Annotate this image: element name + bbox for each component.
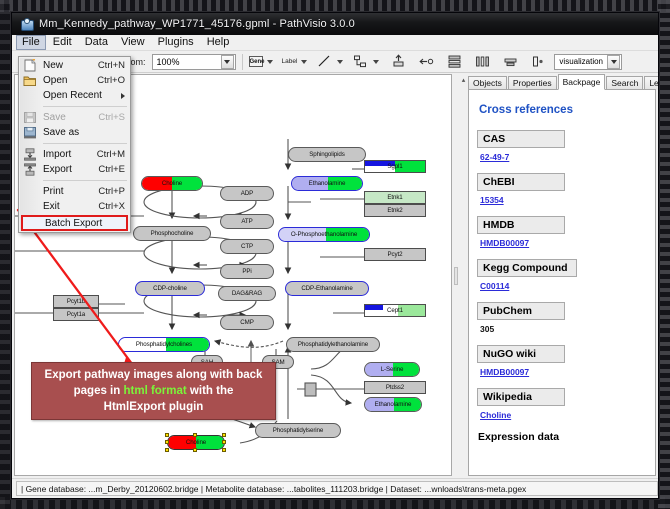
callout-annotation: Export pathway images along with back pa… xyxy=(31,362,276,420)
menu-divider xyxy=(43,143,127,144)
menu-edit[interactable]: Edit xyxy=(47,35,78,50)
chevron-down-icon[interactable] xyxy=(267,60,273,64)
visualization-manager-tool[interactable] xyxy=(530,53,547,70)
chevron-down-icon[interactable] xyxy=(607,55,620,69)
callout-highlight: html format xyxy=(123,385,186,397)
menu-item-batch-export[interactable]: Batch Export xyxy=(21,215,128,231)
menu-item-shortcut: Ctrl+X xyxy=(98,201,125,212)
menu-item-shortcut: Ctrl+E xyxy=(98,164,125,175)
menu-item-label: Open xyxy=(43,75,67,86)
statusbar-text: | Gene database: ...m_Derby_20120602.bri… xyxy=(16,481,658,496)
new-document-icon xyxy=(23,59,37,72)
common-width-icon xyxy=(503,54,518,69)
callout-line-3: HtmlExport plugin xyxy=(104,399,204,415)
menu-item-import[interactable]: Import Ctrl+M xyxy=(19,147,130,162)
menu-item-label: Export xyxy=(43,164,72,175)
align-left-icon xyxy=(419,54,434,69)
xref-value-wikipedia[interactable]: Choline xyxy=(480,410,647,420)
line-icon xyxy=(317,54,332,69)
gene-product-tool[interactable]: Gene xyxy=(249,53,263,70)
xref-value-cas[interactable]: 62-49-7 xyxy=(480,152,647,162)
menu-item-label: Import xyxy=(43,149,71,160)
visualization-combobox[interactable]: visualization xyxy=(554,54,622,70)
chevron-down-icon[interactable] xyxy=(373,60,379,64)
desktop-texture-top xyxy=(0,0,670,12)
menu-item-shortcut: Ctrl+O xyxy=(97,75,125,86)
menu-item-open[interactable]: Open Ctrl+O xyxy=(19,73,130,88)
menu-item-save[interactable]: Save Ctrl+S xyxy=(19,110,130,125)
visualization-icon xyxy=(531,54,546,69)
pathvisio-icon xyxy=(20,18,33,31)
visualization-value: visualization xyxy=(559,57,603,66)
window-titlebar[interactable]: Mm_Kennedy_pathway_WP1771_45176.gpml - P… xyxy=(12,13,658,35)
menu-item-shortcut: Ctrl+S xyxy=(98,112,125,123)
label-tool[interactable]: Label xyxy=(282,53,298,70)
align-top-tool[interactable] xyxy=(390,53,407,70)
interaction-tool[interactable] xyxy=(352,53,369,70)
save-disk-icon xyxy=(23,111,37,124)
export-icon xyxy=(23,163,37,176)
xref-value-pubchem: 305 xyxy=(480,324,647,334)
callout-line-2-a: pages in xyxy=(74,385,124,397)
menu-item-shortcut: Ctrl+P xyxy=(98,186,125,197)
menu-plugins[interactable]: Plugins xyxy=(152,35,200,50)
file-menu-dropdown: New Ctrl+N Open Ctrl+O Open Recent xyxy=(18,56,131,233)
splitter-grip[interactable] xyxy=(454,267,458,285)
menu-item-shortcut: Ctrl+N xyxy=(98,60,125,71)
menu-item-label: Open Recent xyxy=(43,90,102,101)
tab-properties[interactable]: Properties xyxy=(508,76,557,90)
statusbar: | Gene database: ...m_Derby_20120602.bri… xyxy=(12,478,658,498)
menu-data[interactable]: Data xyxy=(79,35,114,50)
callout-line-1: Export pathway images along with back xyxy=(45,367,263,383)
menu-item-save-as[interactable]: Save as xyxy=(19,125,130,140)
side-panel: ▴ Objects Properties Backpage Search Leg… xyxy=(460,74,656,476)
menu-item-label: New xyxy=(43,60,63,71)
stack-vertical-icon xyxy=(447,54,462,69)
chevron-down-icon[interactable] xyxy=(337,60,343,64)
xref-db-hmdb: HMDB xyxy=(477,216,565,234)
menu-item-label: Save xyxy=(43,112,66,123)
xref-value-nugo-wiki[interactable]: HMDB00097 xyxy=(480,367,647,377)
save-as-icon xyxy=(23,126,37,139)
align-left-tool[interactable] xyxy=(418,53,435,70)
screen: Mm_Kennedy_pathway_WP1771_45176.gpml - P… xyxy=(0,0,670,509)
menu-view[interactable]: View xyxy=(115,35,151,50)
align-top-icon xyxy=(391,54,406,69)
zoom-value: 100% xyxy=(157,57,180,67)
panel-splitter[interactable] xyxy=(453,74,460,476)
import-icon xyxy=(23,148,37,161)
menu-item-label: Print xyxy=(43,186,64,197)
desktop-texture-left xyxy=(0,0,10,509)
menu-divider xyxy=(43,106,127,107)
zoom-combobox[interactable]: 100% xyxy=(152,54,236,70)
backpage-content: Cross references CAS 62-49-7 ChEBI 15354… xyxy=(468,89,656,476)
distribute-horizontal-icon xyxy=(475,54,490,69)
chevron-down-icon[interactable] xyxy=(301,60,307,64)
xref-value-chebi[interactable]: 15354 xyxy=(480,195,647,205)
menu-item-label: Save as xyxy=(43,127,79,138)
menu-item-label: Exit xyxy=(43,201,60,212)
menu-divider xyxy=(43,180,127,181)
menu-item-export[interactable]: Export Ctrl+E xyxy=(19,162,130,177)
menu-help[interactable]: Help xyxy=(201,35,236,50)
open-folder-icon xyxy=(23,74,37,87)
menu-item-new[interactable]: New Ctrl+N xyxy=(19,58,130,73)
line-tool[interactable] xyxy=(316,53,333,70)
menu-item-shortcut: Ctrl+M xyxy=(97,149,125,160)
gene-icon: Gene xyxy=(249,56,263,67)
menu-item-print[interactable]: Print Ctrl+P xyxy=(19,184,130,199)
xref-value-hmdb[interactable]: HMDB00097 xyxy=(480,238,647,248)
tab-search[interactable]: Search xyxy=(606,76,643,90)
cross-references-title: Cross references xyxy=(479,104,647,116)
label-icon: Label xyxy=(282,58,298,65)
toolbar-divider xyxy=(242,54,243,70)
window-title: Mm_Kennedy_pathway_WP1771_45176.gpml - P… xyxy=(39,18,355,30)
tab-objects[interactable]: Objects xyxy=(468,76,507,90)
side-panel-tabs: Objects Properties Backpage Search Legen… xyxy=(468,74,656,90)
menu-item-open-recent[interactable]: Open Recent xyxy=(19,88,130,103)
menu-file[interactable]: File xyxy=(16,35,46,50)
xref-db-wikipedia: Wikipedia xyxy=(477,388,565,406)
tab-legend[interactable]: Legend xyxy=(644,76,659,90)
tab-backpage[interactable]: Backpage xyxy=(558,74,606,90)
xref-db-pubchem: PubChem xyxy=(477,302,565,320)
expression-data-title: Expression data xyxy=(478,431,647,443)
distribute-horizontal-tool[interactable] xyxy=(474,53,491,70)
common-width-tool[interactable] xyxy=(502,53,519,70)
xref-db-cas: CAS xyxy=(477,130,565,148)
pathvisio-window: Mm_Kennedy_pathway_WP1771_45176.gpml - P… xyxy=(11,12,659,499)
callout-line-2-b: with the xyxy=(187,385,234,397)
chevron-right-icon xyxy=(121,93,125,99)
pin-icon[interactable]: ▴ xyxy=(460,76,467,86)
xref-db-nugo-wiki: NuGO wiki xyxy=(477,345,565,363)
menu-item-exit[interactable]: Exit Ctrl+X xyxy=(19,199,130,214)
xref-db-chebi: ChEBI xyxy=(477,173,565,191)
menu-item-label: Batch Export xyxy=(45,218,102,229)
callout-line-2: pages in html format with the xyxy=(74,383,234,399)
desktop-texture-right xyxy=(658,0,670,509)
interaction-icon xyxy=(353,54,368,69)
chevron-down-icon[interactable] xyxy=(221,55,234,69)
xref-value-kegg-compound[interactable]: C00114 xyxy=(480,281,647,291)
menubar: File Edit Data View Plugins Help xyxy=(12,35,658,51)
stack-vertical-tool[interactable] xyxy=(446,53,463,70)
xref-db-kegg-compound: Kegg Compound xyxy=(477,259,577,277)
